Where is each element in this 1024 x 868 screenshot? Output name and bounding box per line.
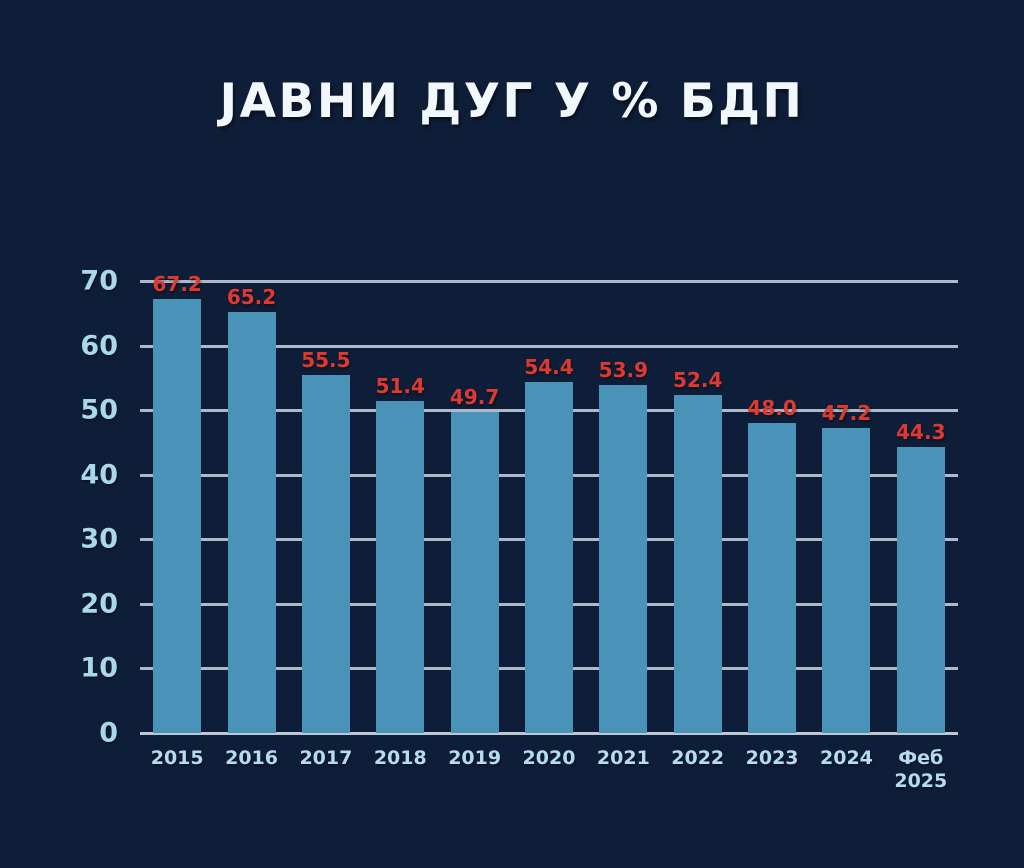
bar-2017[interactable]: 55.5: [302, 375, 350, 733]
x-tick-label-2024: 2024: [809, 747, 883, 770]
bar-2016[interactable]: 65.2: [228, 312, 276, 733]
bar-rect[interactable]: [376, 401, 424, 733]
bar-rect[interactable]: [822, 428, 870, 733]
bar-rect[interactable]: [153, 299, 201, 733]
bar-2024[interactable]: 47.2: [822, 428, 870, 733]
x-tick-label-2019: 2019: [437, 747, 511, 770]
y-tick-label-40: 40: [54, 461, 118, 488]
bar-value-label: 53.9: [599, 360, 648, 380]
bar-value-label: 65.2: [227, 287, 276, 307]
bar-rect[interactable]: [302, 375, 350, 733]
y-tick-label-20: 20: [54, 590, 118, 617]
bar-value-label: 44.3: [896, 422, 945, 442]
gridline-70: [140, 280, 958, 283]
bar-rect[interactable]: [525, 382, 573, 733]
bar-value-label: 52.4: [673, 370, 722, 390]
bar-rect[interactable]: [674, 395, 722, 733]
bar-2020[interactable]: 54.4: [525, 382, 573, 733]
bar-2023[interactable]: 48.0: [748, 423, 796, 733]
bar-rect[interactable]: [599, 385, 647, 733]
bar-value-label: 54.4: [524, 357, 573, 377]
chart-figure: ЈАВНИ ДУГ У % БДП 010203040506070 67.265…: [0, 0, 1024, 868]
bar-2019[interactable]: 49.7: [451, 412, 499, 733]
bar-Феб-2025[interactable]: 44.3: [897, 447, 945, 733]
y-tick-label-30: 30: [54, 526, 118, 553]
x-tick-label-Феб-2025: Феб 2025: [884, 747, 958, 793]
x-tick-label-2022: 2022: [661, 747, 735, 770]
bar-rect[interactable]: [228, 312, 276, 733]
bar-rect[interactable]: [748, 423, 796, 733]
bar-value-label: 49.7: [450, 387, 499, 407]
bar-2018[interactable]: 51.4: [376, 401, 424, 733]
x-tick-label-2017: 2017: [289, 747, 363, 770]
bar-value-label: 47.2: [822, 403, 871, 423]
bar-2015[interactable]: 67.2: [153, 299, 201, 733]
x-tick-label-2020: 2020: [512, 747, 586, 770]
y-tick-label-10: 10: [54, 655, 118, 682]
y-tick-label-70: 70: [54, 268, 118, 295]
bar-value-label: 67.2: [152, 274, 201, 294]
y-tick-label-50: 50: [54, 397, 118, 424]
x-tick-label-2015: 2015: [140, 747, 214, 770]
bar-2022[interactable]: 52.4: [674, 395, 722, 733]
y-tick-label-0: 0: [54, 720, 118, 747]
bar-value-label: 51.4: [376, 376, 425, 396]
bar-value-label: 55.5: [301, 350, 350, 370]
bar-rect[interactable]: [451, 412, 499, 733]
x-tick-label-2018: 2018: [363, 747, 437, 770]
bar-value-label: 48.0: [747, 398, 796, 418]
bar-2021[interactable]: 53.9: [599, 385, 647, 733]
x-tick-label-2021: 2021: [586, 747, 660, 770]
y-tick-label-60: 60: [54, 332, 118, 359]
plot-area: 010203040506070 67.265.255.551.449.754.4…: [0, 0, 1024, 868]
x-tick-label-2016: 2016: [214, 747, 288, 770]
bar-rect[interactable]: [897, 447, 945, 733]
x-tick-label-2023: 2023: [735, 747, 809, 770]
